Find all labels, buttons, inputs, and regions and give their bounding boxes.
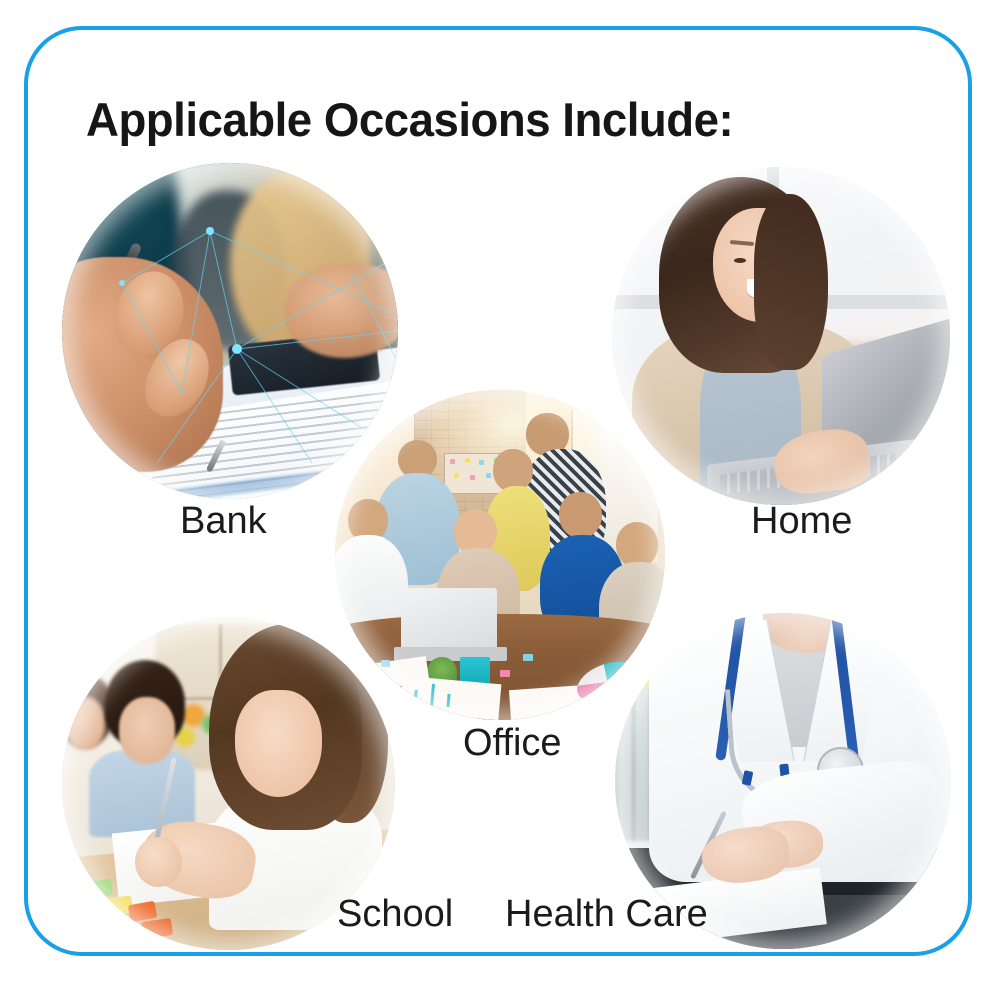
office-laptop-screen-icon <box>401 588 497 651</box>
school-girl-hand <box>135 837 182 887</box>
sticky-note <box>470 475 475 480</box>
sticky-note <box>523 654 533 661</box>
foam-letter <box>88 879 113 899</box>
occasion-label-office: Office <box>463 722 562 765</box>
office-person-head <box>559 492 602 538</box>
occasion-label-school: School <box>337 893 453 936</box>
home-hair-strand <box>754 194 828 370</box>
occasion-label-home: Home <box>751 500 852 543</box>
poster-canvas: Applicable Occasions Include: <box>0 0 1000 1000</box>
occasion-label-health-care: Health Care <box>505 893 708 936</box>
school-child-background-face <box>65 697 105 750</box>
sticky-note <box>500 670 510 677</box>
sticky-note <box>479 460 484 465</box>
school-boy-face <box>119 697 176 764</box>
sticky-note <box>465 458 470 463</box>
page-title: Applicable Occasions Include: <box>86 92 733 147</box>
school-girl-face <box>235 690 322 797</box>
sticky-note <box>450 459 455 464</box>
sticky-note <box>486 473 491 478</box>
sticky-note <box>454 473 459 478</box>
occasion-label-bank: Bank <box>180 500 267 543</box>
